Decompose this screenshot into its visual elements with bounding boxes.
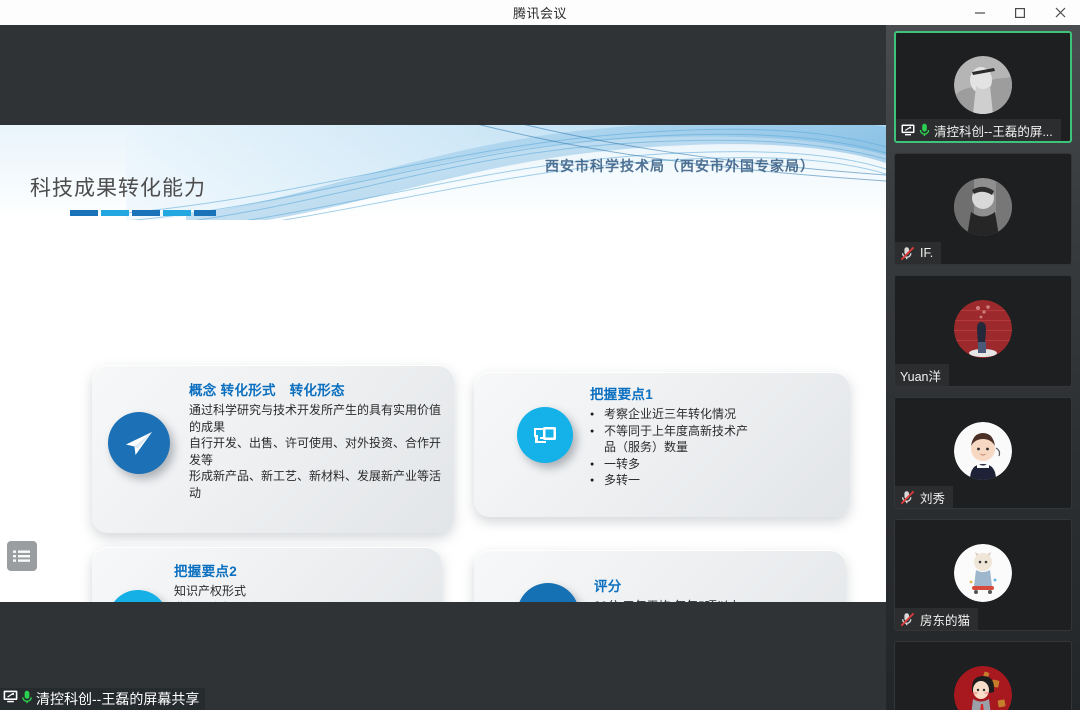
card-line: 形成新产品、新工艺、新材料、发展新产业等活动	[189, 468, 441, 501]
org-watermark-text: 西安市科学技术局（西安市外国专家局）	[545, 156, 815, 176]
avatar	[954, 422, 1012, 480]
participant-namebar: 刘秀	[895, 486, 953, 508]
microphone-active-icon	[919, 123, 930, 137]
trophy-icon	[517, 583, 579, 602]
participant-namebar: 房东的猫	[895, 608, 978, 630]
participant-name: IF.	[920, 246, 933, 260]
card-concept-body: 概念 转化形式 转化形态 通过科学研究与技术开发所产生的具有实用价值的成果 自行…	[189, 379, 441, 501]
participant-tile-phone-number[interactable]: 15353758183	[894, 641, 1072, 710]
participant-sidebar[interactable]: 清控科创--王磊的屏...	[886, 25, 1080, 710]
card-key-point-2: 把握要点2 知识产权形式 非知识产权形式 科技成果鉴定 技术合同登记 验收的省级…	[92, 547, 442, 602]
participant-tile-if[interactable]: IF.	[894, 153, 1072, 265]
paper-plane-icon	[108, 412, 170, 474]
presentation-slide: 科技成果转化能力 概念 转化形式 转化形态 通过科学研究与技术开发所产生的具有实…	[0, 125, 886, 602]
maximize-icon	[1014, 7, 1026, 19]
list-view-icon	[13, 549, 31, 563]
maximize-button[interactable]	[1000, 0, 1040, 25]
participant-tile-yuan[interactable]: Yuan洋	[894, 275, 1072, 387]
window-controls	[960, 0, 1080, 25]
card-bullet-continuation: 品（服务）数量	[590, 439, 840, 456]
tencent-meeting-window: 腾讯会议	[0, 0, 1080, 710]
avatar	[954, 178, 1012, 236]
card-bullet: 多转一	[590, 472, 840, 489]
window-titlebar: 腾讯会议	[0, 0, 1080, 25]
participant-tile-liuxiu[interactable]: 刘秀	[894, 397, 1072, 509]
participant-name: 刘秀	[920, 488, 945, 507]
avatar	[954, 666, 1012, 710]
microphone-muted-icon	[900, 246, 916, 261]
slide-title: 科技成果转化能力	[30, 172, 206, 202]
card-bullet-list: 考察企业近三年转化情况 不等同于上年度高新技术产 品（服务）数量 一转多 多转一	[590, 406, 840, 489]
card-line: 非知识产权形式	[174, 600, 436, 603]
participant-name: 清控科创--王磊的屏...	[934, 121, 1053, 140]
card-bullet: 不等同于上年度高新技术产	[590, 423, 840, 440]
card-concept: 概念 转化形式 转化形态 通过科学研究与技术开发所产生的具有实用价值的成果 自行…	[92, 365, 454, 533]
card-bullet: 一转多	[590, 456, 840, 473]
screen-share-icon	[3, 690, 18, 708]
slide-title-accent-bars	[70, 210, 216, 216]
card-line: 30分 三年平均 每年5项以上	[594, 598, 834, 602]
participant-name: Yuan洋	[900, 366, 941, 385]
screen-share-status-label: 清控科创--王磊的屏幕共享	[0, 688, 205, 710]
participant-name: 房东的猫	[920, 610, 970, 629]
minimize-icon	[974, 7, 986, 19]
screen-share-label-text: 清控科创--王磊的屏幕共享	[36, 689, 199, 709]
card-score-body: 评分 30分 三年平均 每年5项以上 有可能 满分	[594, 575, 834, 602]
copy-windows-icon	[517, 407, 573, 463]
card-bullet: 考察企业近三年转化情况	[590, 406, 840, 423]
participant-namebar: Yuan洋	[895, 364, 949, 386]
card-line: 自行开发、出售、许可使用、对外投资、合作开发等	[189, 435, 441, 468]
card-line: 知识产权形式	[174, 583, 436, 600]
list-view-button[interactable]	[7, 541, 37, 571]
microphone-muted-icon	[900, 612, 916, 627]
card-line: 通过科学研究与技术开发所产生的具有实用价值的成果	[189, 402, 441, 435]
card-key-point-2-body: 把握要点2 知识产权形式 非知识产权形式 科技成果鉴定 技术合同登记 验收的省级…	[174, 560, 436, 602]
shared-screen-stage[interactable]: 科技成果转化能力 概念 转化形式 转化形态 通过科学研究与技术开发所产生的具有实…	[0, 25, 886, 710]
participant-tile-fangdongdemao[interactable]: 房东的猫	[894, 519, 1072, 631]
minimize-button[interactable]	[960, 0, 1000, 25]
participant-namebar: 清控科创--王磊的屏...	[896, 119, 1061, 141]
close-icon	[1054, 6, 1067, 19]
avatar	[954, 56, 1012, 114]
card-heading: 概念 转化形式 转化形态	[189, 379, 441, 399]
card-score: 评分 30分 三年平均 每年5项以上 有可能 满分	[474, 550, 846, 602]
avatar	[954, 300, 1012, 358]
card-key-point-1: 把握要点1 考察企业近三年转化情况 不等同于上年度高新技术产 品（服务）数量 一…	[474, 372, 850, 517]
microphone-muted-icon	[900, 490, 916, 505]
avatar	[954, 544, 1012, 602]
close-button[interactable]	[1040, 0, 1080, 25]
card-heading: 把握要点1	[590, 383, 840, 403]
participant-namebar: IF.	[895, 242, 941, 264]
microphone-active-icon	[21, 690, 33, 709]
participant-tile-screen-share[interactable]: 清控科创--王磊的屏...	[894, 31, 1072, 143]
window-title: 腾讯会议	[513, 3, 567, 22]
paperclip-icon	[108, 590, 168, 602]
card-key-point-1-body: 把握要点1 考察企业近三年转化情况 不等同于上年度高新技术产 品（服务）数量 一…	[590, 383, 840, 489]
card-heading: 评分	[594, 575, 834, 595]
card-heading: 把握要点2	[174, 560, 436, 580]
screen-share-icon	[901, 124, 915, 136]
